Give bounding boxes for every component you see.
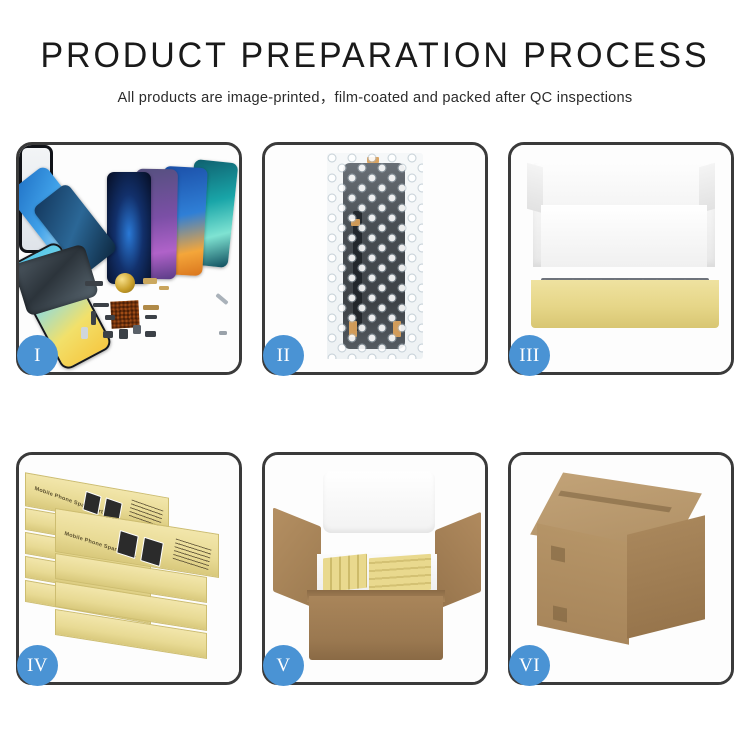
step-5-image [265, 455, 485, 682]
bubble-bag-scene [265, 145, 485, 372]
box-thumbnail [116, 530, 139, 559]
foam-sheet [541, 205, 707, 267]
carton-seal-tab [553, 606, 567, 623]
step-badge-6: VI [509, 645, 550, 686]
step-badge-2: II [263, 335, 304, 376]
spare-part [133, 325, 141, 334]
spare-part [103, 331, 113, 338]
spare-part [119, 329, 128, 339]
bubble-bag [327, 153, 423, 359]
spare-part [91, 311, 96, 325]
spare-part [159, 286, 169, 290]
step-badge-1: I [17, 335, 58, 376]
page-header: PRODUCT PREPARATION PROCESS All products… [0, 0, 750, 107]
stacked-boxes-scene: Mobile Phone Spare Parts Mobile Phone Sp… [19, 455, 239, 682]
speaker-coil-part [115, 273, 135, 293]
step-badge-3: III [509, 335, 550, 376]
process-step-2: II [262, 142, 488, 375]
page-subtitle: All products are image-printed，film-coat… [0, 86, 750, 107]
step-4-image: Mobile Phone Spare Parts Mobile Phone Sp… [19, 455, 239, 682]
spare-part [143, 278, 157, 284]
spare-part [93, 303, 109, 307]
foam-lid [323, 471, 435, 533]
carton-front-face [537, 523, 629, 645]
box-spec-text [173, 538, 212, 570]
bubble-texture [327, 153, 423, 359]
carton-body [309, 596, 443, 660]
spare-part [105, 315, 115, 320]
spare-part [81, 327, 88, 339]
process-step-4: Mobile Phone Spare Parts Mobile Phone Sp… [16, 452, 242, 685]
spare-part [85, 281, 103, 286]
box-thumbnail [140, 537, 164, 567]
process-step-6: VI [508, 452, 734, 685]
box-thumbnail [82, 491, 101, 516]
process-step-3: III [508, 142, 734, 375]
phone-blue-burst [107, 172, 151, 284]
step-2-image [265, 145, 485, 372]
process-step-5: V [262, 452, 488, 685]
sealed-carton-scene [511, 455, 731, 682]
spare-part [219, 331, 227, 335]
boxes-group-right [369, 554, 431, 594]
yellow-inner-box [531, 280, 719, 328]
step-badge-5: V [263, 645, 304, 686]
spare-part [145, 331, 156, 337]
inner-box-scene [511, 145, 731, 372]
step-6-image [511, 455, 731, 682]
page-title: PRODUCT PREPARATION PROCESS [11, 38, 739, 75]
phone-lineup-scene [19, 145, 239, 372]
spare-part [215, 293, 228, 305]
carton-loading-scene [265, 455, 485, 682]
spare-part [145, 315, 157, 319]
spare-part [143, 305, 159, 310]
process-step-1: I [16, 142, 242, 375]
step-badge-4: IV [17, 645, 58, 686]
boxes-group-left [323, 554, 367, 593]
process-grid: I II [16, 142, 734, 685]
carton-side-face [627, 515, 705, 638]
step-3-image [511, 145, 731, 372]
carton-seal-tab [551, 546, 565, 563]
step-1-image [19, 145, 239, 372]
